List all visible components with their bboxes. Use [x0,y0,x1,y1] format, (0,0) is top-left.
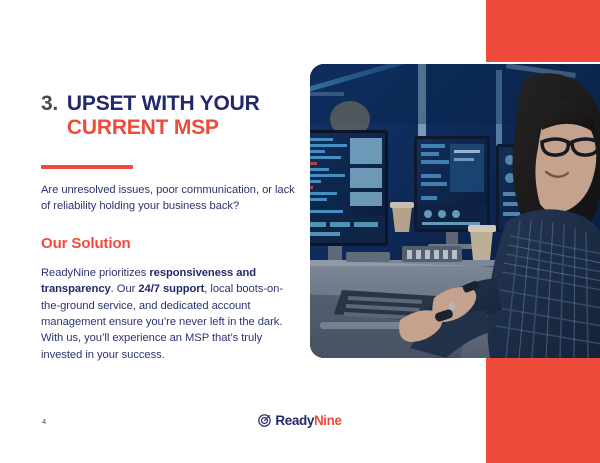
page-title: UPSET WITH YOUR CURRENT MSP [67,92,260,139]
lead-paragraph: Are unresolved issues, poor communicatio… [41,182,297,214]
red-accent-block-bottom [486,352,600,463]
solution-text-part-2: . Our [111,283,139,295]
brand-name-secondary: Nine [314,413,342,428]
photo-illustration [310,64,600,358]
brand-name-primary: Ready [275,413,314,428]
slide-page: 3. UPSET WITH YOUR CURRENT MSP Are unres… [0,0,600,463]
section-heading: 3. UPSET WITH YOUR CURRENT MSP [41,78,297,153]
page-title-line-2: CURRENT MSP [67,116,260,140]
workstation-photo [310,64,600,358]
title-divider [41,165,133,169]
solution-bold-2: 24/7 support [138,283,204,295]
text-column: 3. UPSET WITH YOUR CURRENT MSP Are unres… [41,78,297,374]
brand-logo: ReadyNine [0,414,600,428]
target-circle-icon [258,414,271,427]
red-accent-block-top [486,0,600,62]
brand-name: ReadyNine [275,414,341,428]
section-number: 3. [41,92,58,116]
solution-text-part-1: ReadyNine prioritizes [41,267,149,279]
solution-heading: Our Solution [41,235,297,253]
page-title-line-1: UPSET WITH YOUR [67,92,260,115]
solution-paragraph: ReadyNine prioritizes responsiveness and… [41,265,297,363]
